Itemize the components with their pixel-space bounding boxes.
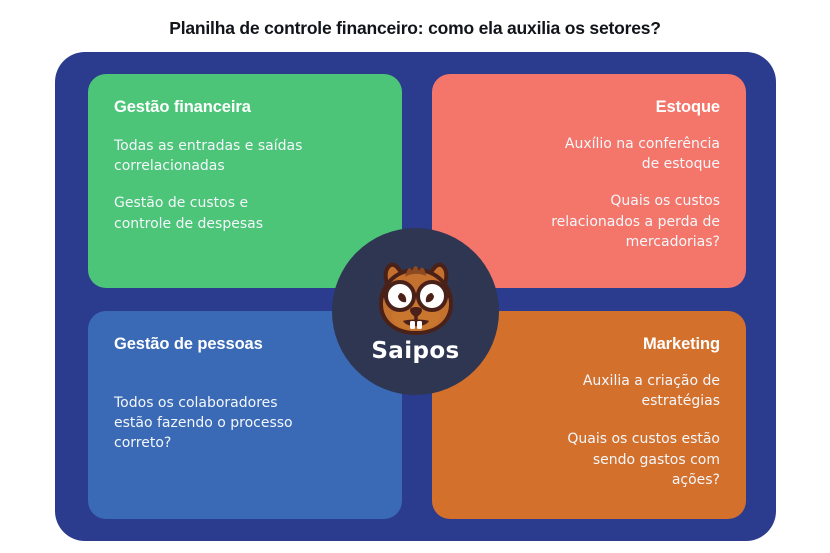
quadrant-line: Quais os custos estão sendo gastos com a… — [458, 429, 720, 490]
quadrant-title: Gestão de pessoas — [114, 335, 263, 355]
quadrant-body: Todos os colaboradores estão fazendo o p… — [114, 393, 376, 454]
quadrant-card-estoque: Estoque Auxílio na conferência de estoqu… — [432, 74, 746, 288]
quadrant-title: Marketing — [643, 335, 720, 355]
quadrant-body: Auxilia a criação de estratégias Quais o… — [458, 371, 720, 490]
quadrant-line: Auxílio na conferência de estoque — [458, 134, 720, 175]
center-logo-badge: Saipos — [332, 228, 499, 395]
quadrant-body: Auxílio na conferência de estoque Quais … — [458, 134, 720, 252]
infographic-page: Planilha de controle financeiro: como el… — [0, 0, 830, 553]
quadrant-line: Todos os colaboradores estão fazendo o p… — [114, 393, 376, 454]
squirrel-mascot-icon — [369, 262, 463, 336]
quadrant-line: Auxilia a criação de estratégias — [458, 371, 720, 412]
quadrant-title: Gestão financeira — [114, 98, 251, 118]
quadrant-line: Todas as entradas e saídas correlacionad… — [114, 136, 376, 177]
quadrant-body: Todas as entradas e saídas correlacionad… — [114, 136, 376, 234]
quadrant-title: Estoque — [656, 98, 720, 118]
page-title: Planilha de controle financeiro: como el… — [0, 18, 830, 39]
logo-wordmark: Saipos — [371, 340, 459, 363]
quadrant-line: Quais os custos relacionados a perda de … — [458, 191, 720, 252]
quadrant-line: Gestão de custos e controle de despesas — [114, 193, 376, 234]
